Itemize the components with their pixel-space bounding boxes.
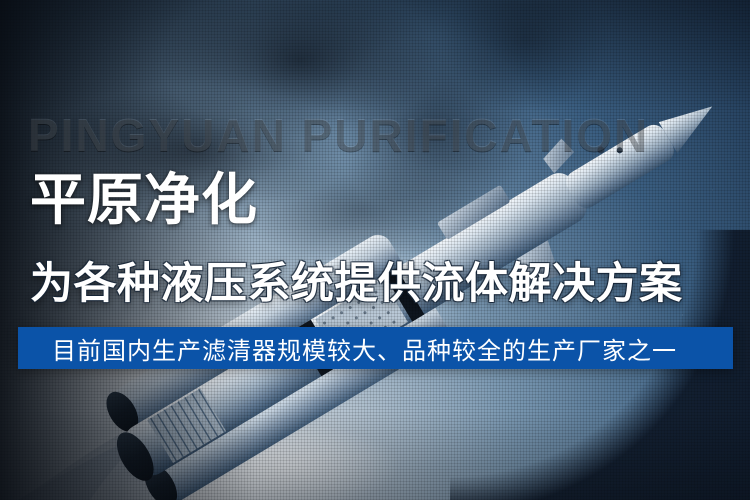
page-title: 平原净化 <box>30 170 258 229</box>
hero-banner: PINGYUAN PURIFICATION 平原净化 为各种液压系统提供流体解决… <box>0 0 750 500</box>
vignette-overlay <box>0 0 750 500</box>
tagline-text: 目前国内生产滤清器规模较大、品种较全的生产厂家之一 <box>52 331 677 366</box>
watermark-pinyin: PINGYUAN PURIFICATION <box>28 112 649 158</box>
tagline-ribbon: 目前国内生产滤清器规模较大、品种较全的生产厂家之一 <box>18 327 733 369</box>
page-subtitle: 为各种液压系统提供流体解决方案 <box>30 261 683 308</box>
